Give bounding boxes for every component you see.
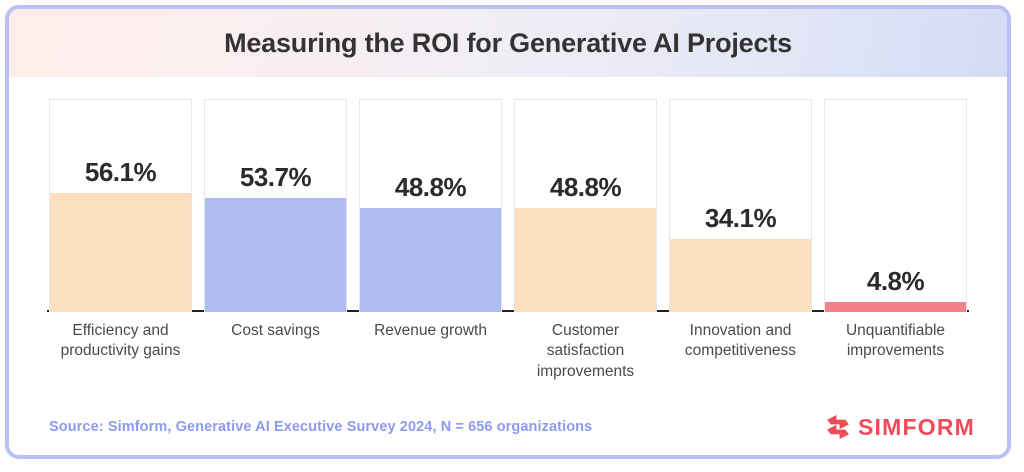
- simform-wordmark: SIMFORM: [858, 414, 975, 441]
- source-note: Source: Simform, Generative AI Executive…: [49, 419, 592, 435]
- bar-value-label: 56.1%: [49, 157, 192, 188]
- page-title: Measuring the ROI for Generative AI Proj…: [224, 28, 792, 59]
- chart-header: Measuring the ROI for Generative AI Proj…: [9, 9, 1007, 77]
- plot-area: 56.1%53.7%48.8%48.8%34.1%4.8% Efficiency…: [9, 77, 1007, 399]
- category-label: Revenue growth: [359, 321, 502, 382]
- bar-column: 48.8%: [359, 99, 502, 312]
- simform-s-arrow-icon: [825, 414, 851, 440]
- bar-column: 4.8%: [824, 99, 967, 312]
- bar-value-label: 53.7%: [204, 162, 347, 193]
- bar-value-label: 48.8%: [359, 172, 502, 203]
- chart-card: Measuring the ROI for Generative AI Proj…: [5, 5, 1011, 459]
- bar-value-label: 34.1%: [669, 203, 812, 234]
- bar-column: 34.1%: [669, 99, 812, 312]
- bar-fill: [50, 193, 191, 312]
- bar-column: 48.8%: [514, 99, 657, 312]
- category-label: Cost savings: [204, 321, 347, 382]
- bar-value-label: 4.8%: [824, 266, 967, 297]
- category-axis-labels: Efficiency and productivity gainsCost sa…: [19, 312, 997, 382]
- bar-fill: [515, 208, 656, 312]
- category-label: Innovation and competitiveness: [669, 321, 812, 382]
- category-label: Customer satisfaction improvements: [514, 321, 657, 382]
- bar-column: 56.1%: [49, 99, 192, 312]
- bar-fill: [360, 208, 501, 312]
- bar-value-label: 48.8%: [514, 172, 657, 203]
- bar-fill: [670, 239, 811, 312]
- bar-series: 56.1%53.7%48.8%48.8%34.1%4.8%: [19, 99, 997, 312]
- bar-fill: [825, 302, 966, 312]
- category-label: Efficiency and productivity gains: [49, 321, 192, 382]
- category-label: Unquantifiable improvements: [824, 321, 967, 382]
- simform-logo: SIMFORM: [825, 414, 975, 441]
- bar-column: 53.7%: [204, 99, 347, 312]
- chart-footer: Source: Simform, Generative AI Executive…: [9, 399, 1007, 455]
- bar-fill: [205, 198, 346, 312]
